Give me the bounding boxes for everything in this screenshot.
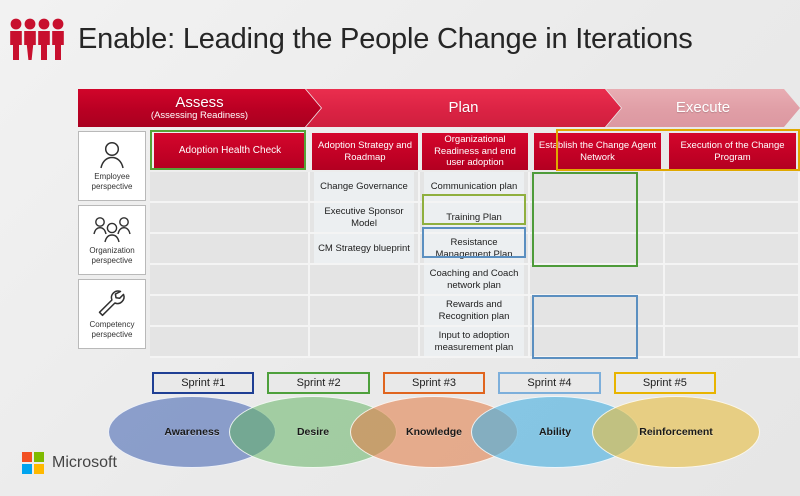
cell-r0-c2[interactable]: Communication plan — [420, 172, 530, 203]
cell-r4-c1 — [310, 296, 420, 327]
adkar-label-ability: Ability — [539, 426, 571, 438]
cell-r1-c1[interactable]: Executive Sponsor Model — [310, 203, 420, 234]
phase-chevron-bar: Assess (Assessing Readiness) Plan Execut… — [78, 89, 800, 127]
sprint-badge-row: Sprint #1 Sprint #2 Sprint #3 Sprint #4 … — [152, 372, 716, 394]
cell-r2-c2[interactable]: Resistance Management Plan — [420, 234, 530, 265]
activity-matrix: Adoption Health Check Adoption Strategy … — [150, 131, 800, 358]
table-row: Input to adoption measurement plan — [150, 327, 800, 358]
sprint-label-5: Sprint #5 — [643, 377, 687, 389]
cell-r3-c1 — [310, 265, 420, 296]
cell-r4-c3 — [530, 296, 665, 327]
table-row: Executive Sponsor Model Training Plan — [150, 203, 800, 234]
sprint-badge-4[interactable]: Sprint #4 — [498, 372, 600, 394]
phase-label-assess: Assess — [175, 95, 223, 111]
matrix-header-cell-3: Establish the Change Agent Network — [530, 131, 665, 172]
person-icon — [96, 141, 128, 169]
table-row: Coaching and Coach network plan — [150, 265, 800, 296]
cell-r2-c1[interactable]: CM Strategy blueprint — [310, 234, 420, 265]
phase-sublabel-assess: (Assessing Readiness) — [151, 111, 248, 121]
sprint-label-2: Sprint #2 — [297, 377, 341, 389]
tile-communication-plan: Communication plan — [424, 172, 524, 201]
adkar-label-reinforcement: Reinforcement — [639, 426, 713, 438]
cell-r5-c0 — [150, 327, 310, 358]
microsoft-logo: Microsoft — [22, 452, 117, 474]
tile-cm-strategy-blueprint: CM Strategy blueprint — [314, 234, 414, 263]
cell-r3-c2[interactable]: Coaching and Coach network plan — [420, 265, 530, 296]
four-people-icon — [8, 17, 66, 61]
microsoft-wordmark: Microsoft — [52, 454, 117, 472]
logo-square-yellow — [34, 464, 44, 474]
cell-r3-c4 — [665, 265, 800, 296]
adkar-label-awareness: Awareness — [164, 426, 219, 438]
cell-r5-c3 — [530, 327, 665, 358]
adkar-ellipse-row: Awareness Desire Knowledge Ability Reinf… — [108, 396, 758, 468]
cell-r0-c1[interactable]: Change Governance — [310, 172, 420, 203]
tile-training-plan: Training Plan — [424, 203, 524, 232]
cell-r0-c3 — [530, 172, 665, 203]
tile-coaching-network-plan: Coaching and Coach network plan — [424, 265, 524, 294]
matrix-header-row: Adoption Health Check Adoption Strategy … — [150, 131, 800, 172]
matrix-header-cell-0: Adoption Health Check — [150, 131, 310, 172]
microsoft-logo-icon — [22, 452, 44, 474]
perspective-label-competency-2: perspective — [92, 330, 133, 339]
cell-r4-c0 — [150, 296, 310, 327]
perspective-label-competency-1: Competency — [90, 320, 135, 329]
sprint-label-4: Sprint #4 — [527, 377, 571, 389]
sprint-label-3: Sprint #3 — [412, 377, 456, 389]
cell-r0-c4 — [665, 172, 800, 203]
header-card-org-readiness[interactable]: Organizational Readiness and end user ad… — [422, 133, 528, 170]
cell-r3-c3 — [530, 265, 665, 296]
adkar-label-knowledge: Knowledge — [406, 426, 462, 438]
perspective-label-employee-2: perspective — [92, 182, 133, 191]
header-card-change-agent-network[interactable]: Establish the Change Agent Network — [534, 133, 661, 170]
table-row: Rewards and Recognition plan — [150, 296, 800, 327]
cell-r1-c4 — [665, 203, 800, 234]
cell-r5-c1 — [310, 327, 420, 358]
sprint-badge-2[interactable]: Sprint #2 — [267, 372, 369, 394]
tile-resistance-management-plan: Resistance Management Plan — [424, 234, 524, 263]
sprint-badge-1[interactable]: Sprint #1 — [152, 372, 254, 394]
perspective-label-organization-1: Organization — [89, 246, 134, 255]
slide-canvas: Enable: Leading the People Change in Ite… — [0, 0, 800, 496]
logo-square-green — [34, 452, 44, 462]
cell-r4-c4 — [665, 296, 800, 327]
cell-r5-c4 — [665, 327, 800, 358]
adkar-label-desire: Desire — [297, 426, 329, 438]
cell-r2-c3 — [530, 234, 665, 265]
header-card-adoption-health-check[interactable]: Adoption Health Check — [154, 133, 306, 170]
header-card-execution-change-program[interactable]: Execution of the Change Program — [669, 133, 796, 170]
table-row: CM Strategy blueprint Resistance Managem… — [150, 234, 800, 265]
sprint-label-1: Sprint #1 — [181, 377, 225, 389]
cell-r4-c2[interactable]: Rewards and Recognition plan — [420, 296, 530, 327]
perspective-card-organization[interactable]: Organization perspective — [78, 205, 146, 275]
wrench-icon — [95, 289, 129, 317]
perspective-label-organization-2: perspective — [92, 256, 133, 265]
tile-rewards-recognition-plan: Rewards and Recognition plan — [424, 296, 524, 325]
cell-r1-c3 — [530, 203, 665, 234]
perspective-card-competency[interactable]: Competency perspective — [78, 279, 146, 349]
cell-r3-c0 — [150, 265, 310, 296]
sprint-badge-5[interactable]: Sprint #5 — [614, 372, 716, 394]
cell-r1-c0 — [150, 203, 310, 234]
perspective-card-employee[interactable]: Employee perspective — [78, 131, 146, 201]
tile-executive-sponsor-model: Executive Sponsor Model — [314, 203, 414, 232]
cell-r0-c0 — [150, 172, 310, 203]
header-card-adoption-strategy[interactable]: Adoption Strategy and Roadmap — [312, 133, 418, 170]
logo-square-orange — [22, 452, 32, 462]
logo-square-blue — [22, 464, 32, 474]
perspective-label-employee-1: Employee — [94, 172, 130, 181]
phase-label-execute: Execute — [676, 100, 730, 116]
title-bar: Enable: Leading the People Change in Ite… — [0, 8, 800, 70]
sprint-badge-3[interactable]: Sprint #3 — [383, 372, 485, 394]
cell-r1-c2[interactable]: Training Plan — [420, 203, 530, 234]
people-group-icon — [93, 215, 131, 243]
tile-change-governance: Change Governance — [314, 172, 414, 201]
cell-r2-c0 — [150, 234, 310, 265]
adkar-ellipse-reinforcement[interactable]: Reinforcement — [592, 396, 760, 468]
page-title: Enable: Leading the People Change in Ite… — [78, 23, 693, 56]
matrix-header-cell-2: Organizational Readiness and end user ad… — [420, 131, 530, 172]
perspective-sidebar: Employee perspective Organization perspe… — [78, 131, 146, 353]
matrix-header-cell-1: Adoption Strategy and Roadmap — [310, 131, 420, 172]
phase-chevron-assess[interactable]: Assess (Assessing Readiness) — [78, 89, 321, 127]
cell-r5-c2[interactable]: Input to adoption measurement plan — [420, 327, 530, 358]
phase-label-plan: Plan — [448, 100, 478, 116]
cell-r2-c4 — [665, 234, 800, 265]
table-row: Change Governance Communication plan — [150, 172, 800, 203]
tile-input-adoption-measurement-plan: Input to adoption measurement plan — [424, 327, 524, 356]
matrix-header-cell-4: Execution of the Change Program — [665, 131, 800, 172]
phase-chevron-execute[interactable]: Execute — [606, 89, 800, 127]
phase-chevron-plan[interactable]: Plan — [306, 89, 621, 127]
